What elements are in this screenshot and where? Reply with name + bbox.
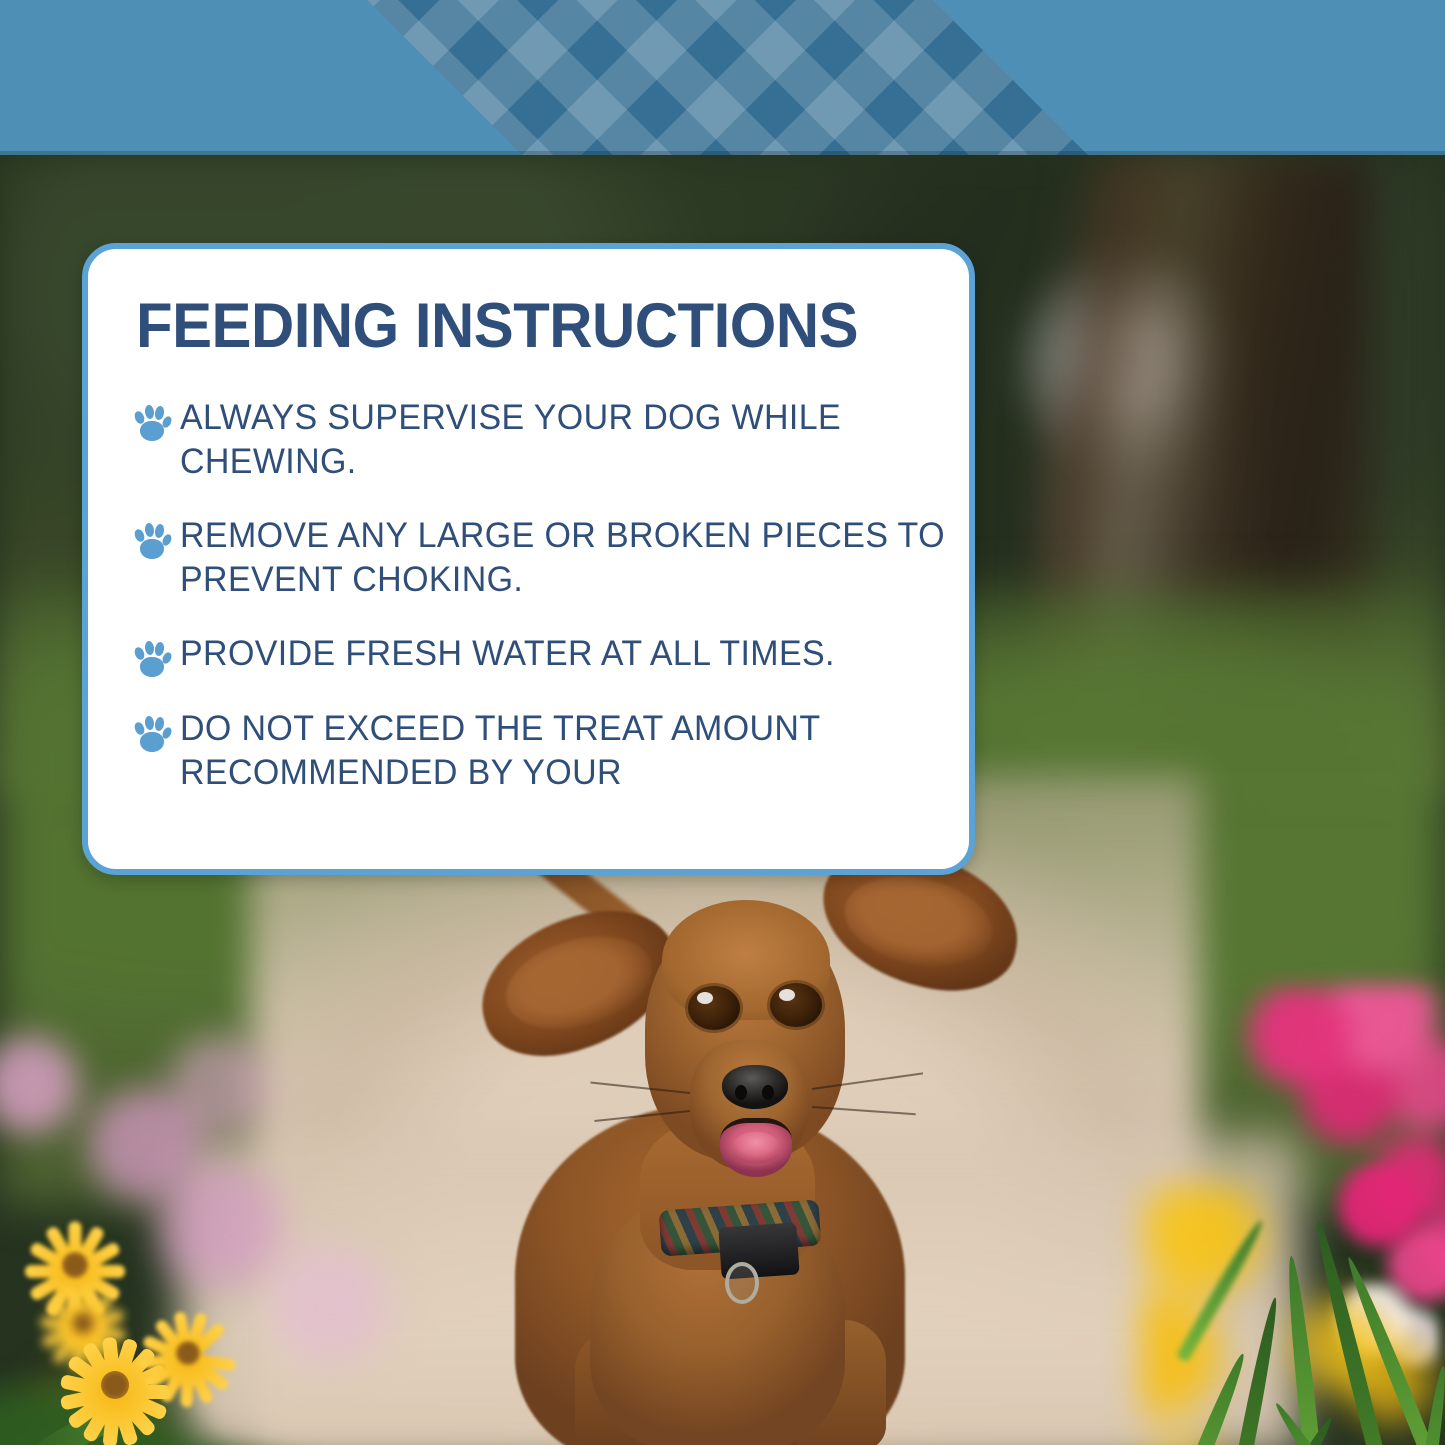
dog-nose [722,1065,788,1109]
instruction-text: DO NOT EXCEED THE TREAT AMOUNT RECOMMEND… [180,707,945,795]
page-title: FEEDING INSTRUCTIONS [136,295,927,358]
paw-print-icon [134,641,168,677]
list-item: DO NOT EXCEED THE TREAT AMOUNT RECOMMEND… [134,707,969,795]
gingham-header-band [0,0,1445,155]
gingham-check-pattern [0,0,1445,155]
poster-canvas: FEEDING INSTRUCTIONS ALWAYS SUPERVISE YO… [0,0,1445,1445]
dog-tongue [732,1132,780,1166]
paw-print-icon [134,716,168,752]
list-item: REMOVE ANY LARGE OR BROKEN PIECES TO PRE… [134,514,969,602]
list-item: ALWAYS SUPERVISE YOUR DOG WHILE CHEWING. [134,396,969,484]
dog-collar-ring [725,1262,759,1304]
header-bottom-shadow [0,151,1445,155]
paw-print-icon [134,523,168,559]
instructions-list: ALWAYS SUPERVISE YOUR DOG WHILE CHEWING.… [134,396,969,796]
instruction-text: REMOVE ANY LARGE OR BROKEN PIECES TO PRE… [180,514,945,602]
feeding-instructions-card: FEEDING INSTRUCTIONS ALWAYS SUPERVISE YO… [82,243,975,875]
list-item: PROVIDE FRESH WATER AT ALL TIMES. [134,632,969,677]
instruction-text: PROVIDE FRESH WATER AT ALL TIMES. [180,632,835,676]
instruction-text: ALWAYS SUPERVISE YOUR DOG WHILE CHEWING. [180,396,945,484]
dog-eye-right [770,983,822,1027]
paw-print-icon [134,405,168,441]
dog-eye-left [688,986,740,1030]
